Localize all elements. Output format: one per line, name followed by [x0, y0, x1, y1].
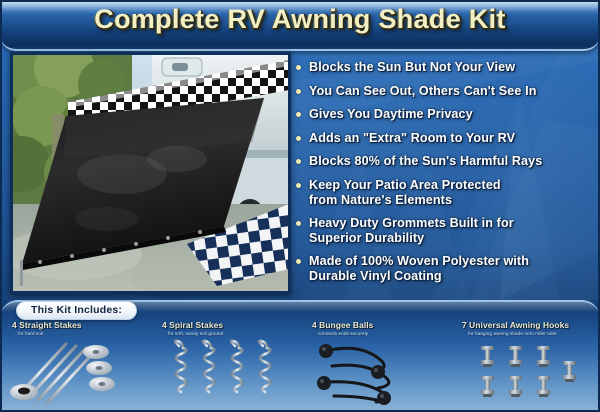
kit-item-spiral-stakes: 4 Spiral Stakes for soft, sandy soil gro…: [150, 318, 300, 412]
feature-text: Blocks the Sun But Not Your View: [309, 60, 515, 74]
page-title: Complete RV Awning Shade Kit: [0, 4, 600, 35]
bullet-dot-icon: [296, 159, 301, 164]
spiral-stakes-icon: [150, 336, 300, 408]
bullet-dot-icon: [296, 221, 301, 226]
feature-item: Keep Your Patio Area Protected from Natu…: [296, 178, 592, 207]
bullet-dot-icon: [296, 112, 301, 117]
kit-item-awning-hooks: 7 Universal Awning Hooks for hanging awn…: [450, 318, 600, 412]
feature-text: Made of 100% Woven Polyester with: [309, 254, 529, 268]
kit-item-title: 4 Bungee Balls: [300, 320, 450, 330]
bullet-dot-icon: [296, 136, 301, 141]
kit-items-row: 4 Straight Stakes for hard soil: [0, 318, 600, 412]
feature-item: Blocks 80% of the Sun's Harmful Rays: [296, 154, 592, 169]
awning-hooks-icon: [450, 336, 600, 408]
feature-text-line2: from Nature's Elements: [309, 193, 592, 208]
kit-item-title: 4 Straight Stakes: [0, 320, 150, 330]
feature-text: You Can See Out, Others Can't See In: [309, 84, 537, 98]
feature-text: Keep Your Patio Area Protected: [309, 178, 501, 192]
kit-item-title: 7 Universal Awning Hooks: [450, 320, 600, 330]
feature-list: Blocks the Sun But Not Your View You Can…: [296, 60, 592, 293]
feature-text: Adds an "Extra" Room to Your RV: [309, 131, 515, 145]
bullet-dot-icon: [296, 89, 301, 94]
feature-item: Made of 100% Woven Polyester with Durabl…: [296, 254, 592, 283]
feature-text: Gives You Daytime Privacy: [309, 107, 473, 121]
rv-awning-photo-illustration: [12, 54, 289, 292]
feature-item: Gives You Daytime Privacy: [296, 107, 592, 122]
feature-text: Blocks 80% of the Sun's Harmful Rays: [309, 154, 542, 168]
bungee-balls-icon: [300, 336, 450, 408]
straight-stakes-icon: [0, 336, 150, 408]
feature-text-line2: Superior Durability: [309, 231, 592, 246]
feature-item: You Can See Out, Others Can't See In: [296, 84, 592, 99]
kit-item-bungee-balls: 4 Bungee Balls connects ends securely: [300, 318, 450, 412]
bullet-dot-icon: [296, 259, 301, 264]
feature-text-line2: Durable Vinyl Coating: [309, 269, 592, 284]
feature-item: Adds an "Extra" Room to Your RV: [296, 131, 592, 146]
feature-item: Heavy Duty Grommets Built in for Superio…: [296, 216, 592, 245]
feature-text: Heavy Duty Grommets Built in for: [309, 216, 514, 230]
kit-item-straight-stakes: 4 Straight Stakes for hard soil: [0, 318, 150, 412]
feature-item: Blocks the Sun But Not Your View: [296, 60, 592, 75]
rv-awning-shade-kit-ad: Complete RV Awning Shade Kit: [0, 0, 600, 412]
bullet-dot-icon: [296, 183, 301, 188]
product-photo: [10, 52, 291, 294]
ad-header: Complete RV Awning Shade Kit: [0, 0, 600, 51]
bullet-dot-icon: [296, 65, 301, 70]
kit-item-title: 4 Spiral Stakes: [150, 320, 300, 330]
